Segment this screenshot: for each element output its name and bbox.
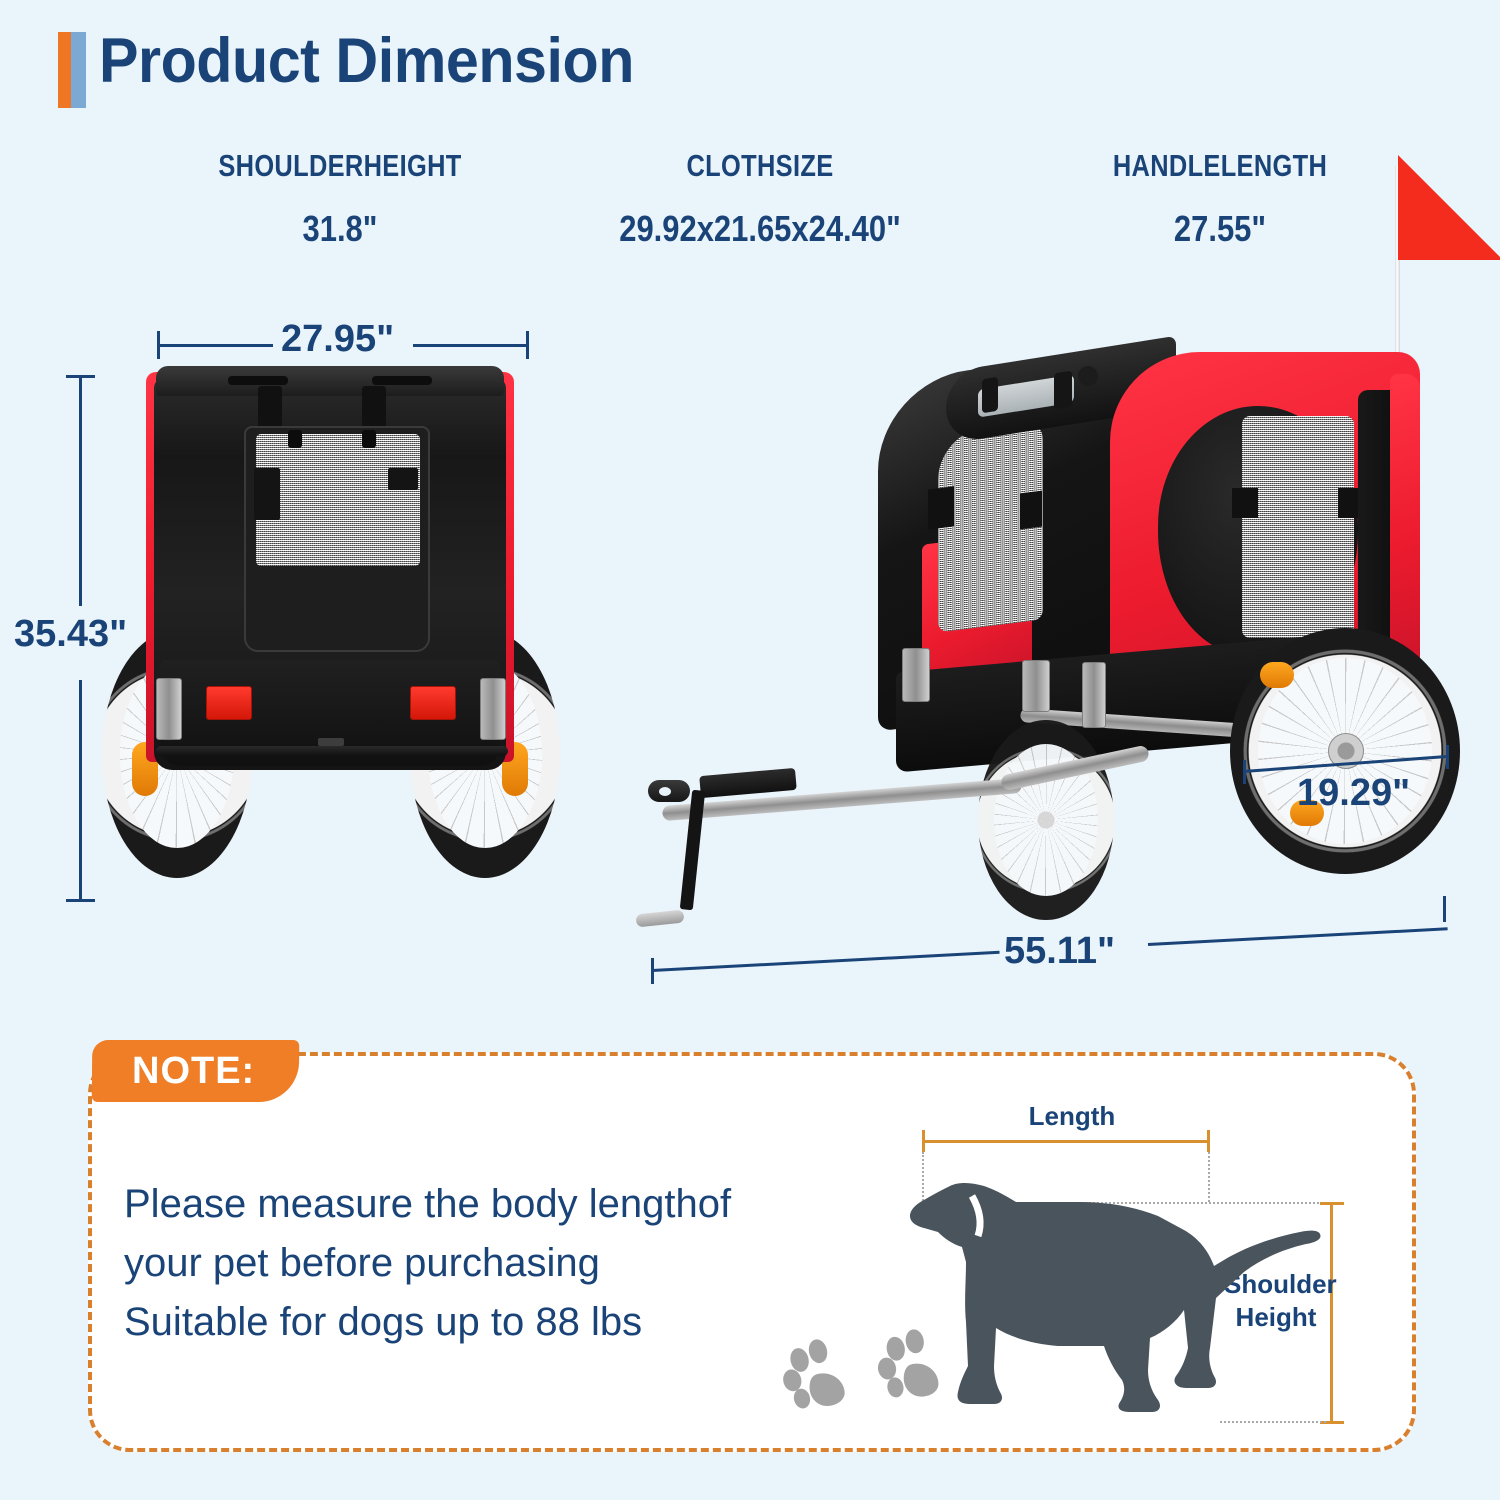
safety-strap-clip bbox=[635, 910, 684, 928]
rear-zipper bbox=[318, 738, 344, 746]
note-line-2: your pet before purchasing bbox=[124, 1234, 884, 1293]
dim-rear-width-tick-left bbox=[157, 331, 160, 359]
side-roof-clip-left bbox=[982, 377, 998, 414]
dim-length-tick-left bbox=[651, 958, 654, 984]
dim-dog-height-line bbox=[1330, 1202, 1333, 1424]
rear-reflector-right bbox=[410, 686, 456, 720]
dog-measurement-diagram: Length Shoulder Height bbox=[890, 1090, 1390, 1430]
dim-dog-length-line bbox=[922, 1140, 1210, 1143]
rear-mesh-clip-left bbox=[288, 430, 302, 448]
paw-print-icon-left bbox=[780, 1338, 856, 1414]
side-bracket-2 bbox=[1022, 660, 1050, 712]
side-mesh-tab-rear-right bbox=[1020, 491, 1042, 530]
side-roof-knob bbox=[1078, 366, 1098, 386]
side-bracket-1 bbox=[902, 648, 930, 702]
spec-label: HANDLELENGTH bbox=[990, 148, 1449, 184]
dim-rear-width-line-right bbox=[413, 344, 528, 347]
rear-velcro-tab-right bbox=[388, 468, 418, 490]
side-mesh-tab-front-left bbox=[1232, 488, 1258, 518]
note-line-3: Suitable for dogs up to 88 lbs bbox=[124, 1293, 884, 1352]
dim-rear-height-tick-bottom bbox=[66, 899, 95, 902]
dim-rear-height-line-bottom bbox=[79, 680, 82, 902]
side-roof-clip-right bbox=[1054, 371, 1072, 410]
title-accent-orange-bar bbox=[58, 32, 71, 108]
dim-rear-height-label: 35.43" bbox=[14, 613, 127, 656]
rear-cabin-top-lip bbox=[156, 366, 504, 396]
side-wheel-reflector-upper bbox=[1260, 662, 1294, 688]
rear-mesh-window bbox=[256, 434, 420, 566]
dim-rear-height-tick-top bbox=[66, 375, 95, 378]
rear-axle-bar bbox=[156, 746, 508, 756]
page-title: Product Dimension bbox=[99, 32, 634, 92]
note-badge: NOTE: bbox=[92, 1040, 300, 1102]
side-mesh-window-front bbox=[1242, 416, 1354, 638]
rear-axle-bracket-left bbox=[156, 678, 182, 740]
product-side-view bbox=[860, 330, 1500, 930]
rear-mesh-clip-right bbox=[362, 430, 376, 448]
note-badge-label: NOTE: bbox=[132, 1050, 255, 1093]
product-rear-view bbox=[110, 360, 540, 920]
rear-top-strap-left bbox=[228, 376, 288, 385]
spec-value: 29.92x21.65x24.40" bbox=[519, 208, 1001, 250]
dim-dog-length-tick-left bbox=[922, 1130, 925, 1152]
rear-axle-bracket-right bbox=[480, 678, 506, 740]
hitch-coupler-hole bbox=[659, 787, 671, 796]
rear-top-strap-right bbox=[372, 376, 432, 385]
dog-silhouette-icon bbox=[908, 1152, 1328, 1424]
dim-dog-length-label: Length bbox=[1012, 1100, 1132, 1133]
side-wheel-far bbox=[978, 720, 1114, 920]
hitch-clamp bbox=[699, 768, 797, 798]
dim-length-label: 55.11" bbox=[1004, 930, 1115, 973]
dim-rear-width-line-left bbox=[158, 344, 273, 347]
title-accent-blue-bar bbox=[71, 32, 86, 108]
spec-value: 27.55" bbox=[979, 208, 1461, 250]
page-header: Product Dimension bbox=[58, 32, 668, 108]
rear-velcro-tab-left bbox=[254, 468, 280, 520]
dim-wheel-tick-left bbox=[1243, 760, 1246, 784]
dim-length-line-right bbox=[1148, 927, 1448, 946]
note-text: Please measure the body lengthof your pe… bbox=[124, 1175, 884, 1353]
dim-rear-width-label: 27.95" bbox=[281, 318, 394, 361]
rear-reflector-left bbox=[206, 686, 252, 720]
dim-wheel-tick-right bbox=[1446, 745, 1449, 769]
dim-length-line-left bbox=[652, 951, 1000, 972]
dim-rear-height-line-top bbox=[79, 376, 82, 606]
side-mesh-tab-rear-left bbox=[928, 486, 954, 529]
note-line-1: Please measure the body lengthof bbox=[124, 1175, 884, 1234]
side-bracket-3 bbox=[1082, 662, 1106, 728]
spec-label: CLOTHSIZE bbox=[530, 148, 989, 184]
dim-dog-length-tick-right bbox=[1207, 1130, 1210, 1152]
side-right-red-edge bbox=[1390, 374, 1420, 684]
dim-length-tick-right bbox=[1443, 896, 1446, 922]
paw-print-icon-right bbox=[875, 1328, 951, 1404]
dim-wheel-label: 19.29" bbox=[1297, 772, 1410, 815]
dim-rear-width-tick-right bbox=[526, 331, 529, 359]
